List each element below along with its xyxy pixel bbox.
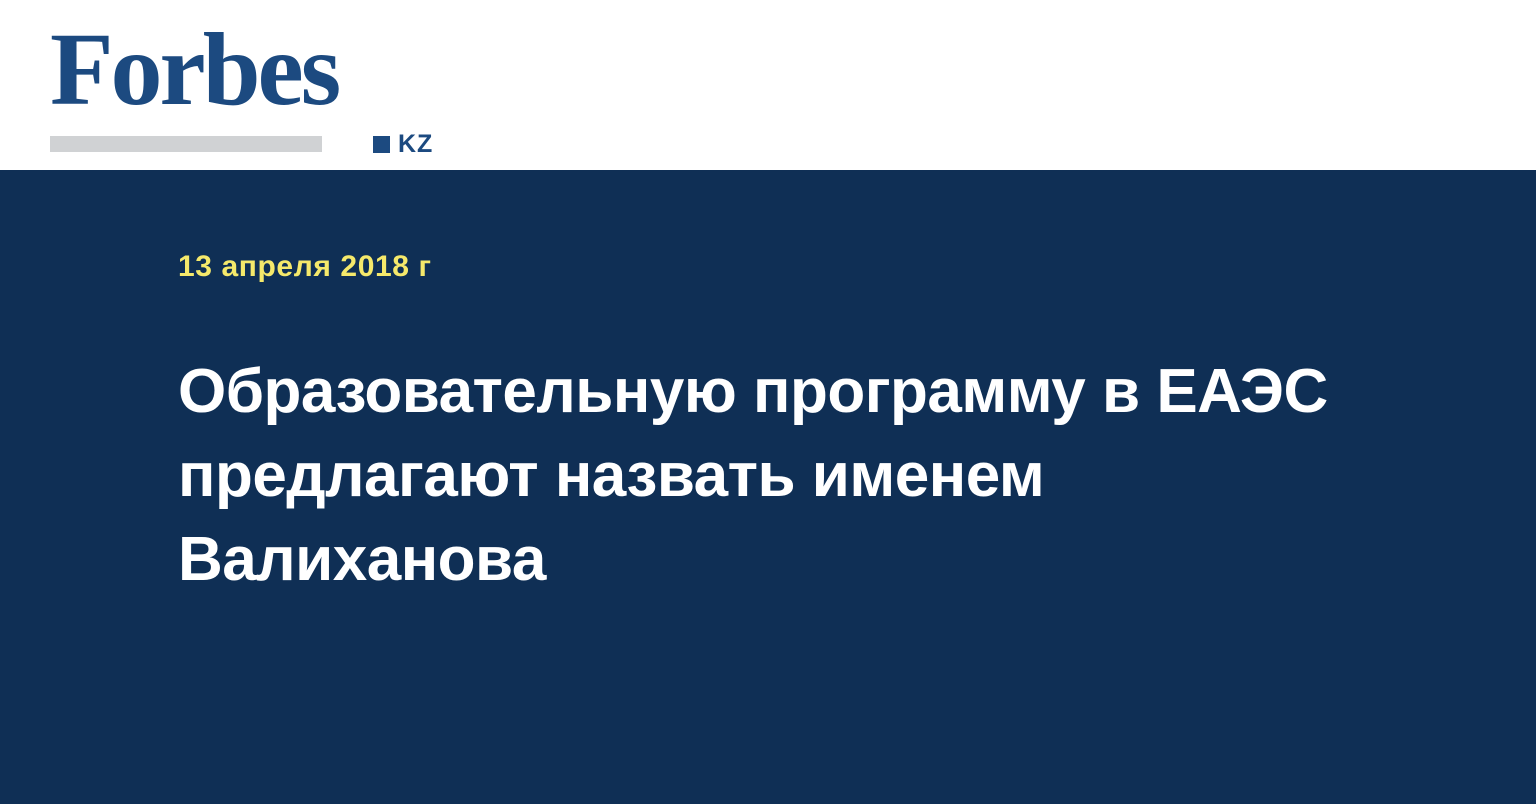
article-hero: 13 апреля 2018 г Образовательную програм…	[0, 170, 1536, 804]
logo-blue-square-icon	[373, 136, 390, 153]
forbes-wordmark: Forbes	[50, 18, 410, 122]
forbes-kz-logo[interactable]: Forbes KZ	[50, 18, 410, 148]
article-hero-page: Forbes KZ 13 апреля 2018 г Образовательн…	[0, 0, 1536, 804]
article-publish-date: 13 апреля 2018 г	[178, 250, 432, 284]
site-header: Forbes KZ	[0, 0, 1536, 170]
logo-gray-bar-icon	[50, 136, 322, 152]
article-headline: Образовательную программу в ЕАЭС предлаг…	[178, 350, 1378, 602]
logo-kz-suffix: KZ	[398, 132, 433, 157]
